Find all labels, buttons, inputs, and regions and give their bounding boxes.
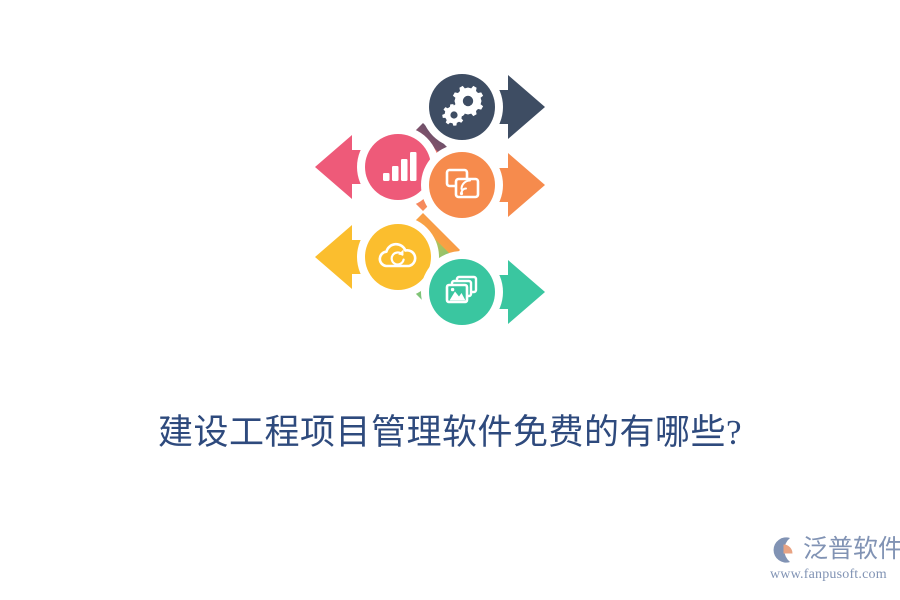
node-gallery[interactable] [421,251,503,333]
page-root: 建设工程项目管理软件免费的有哪些? 泛普软件 www.fanpusoft.com [0,0,900,600]
logo-brand-name: 泛普软件 [803,536,900,564]
logo-row: 泛普软件 [770,534,892,566]
arrows-process-infographic [290,60,570,340]
fanpu-logo-icon [770,535,800,565]
node-gears[interactable] [421,66,503,148]
node-screen-cast[interactable] [421,144,503,226]
logo-website-url: www.fanpusoft.com [770,567,892,583]
brand-logo[interactable]: 泛普软件 www.fanpusoft.com [770,534,892,586]
page-title: 建设工程项目管理软件免费的有哪些? [0,408,900,458]
